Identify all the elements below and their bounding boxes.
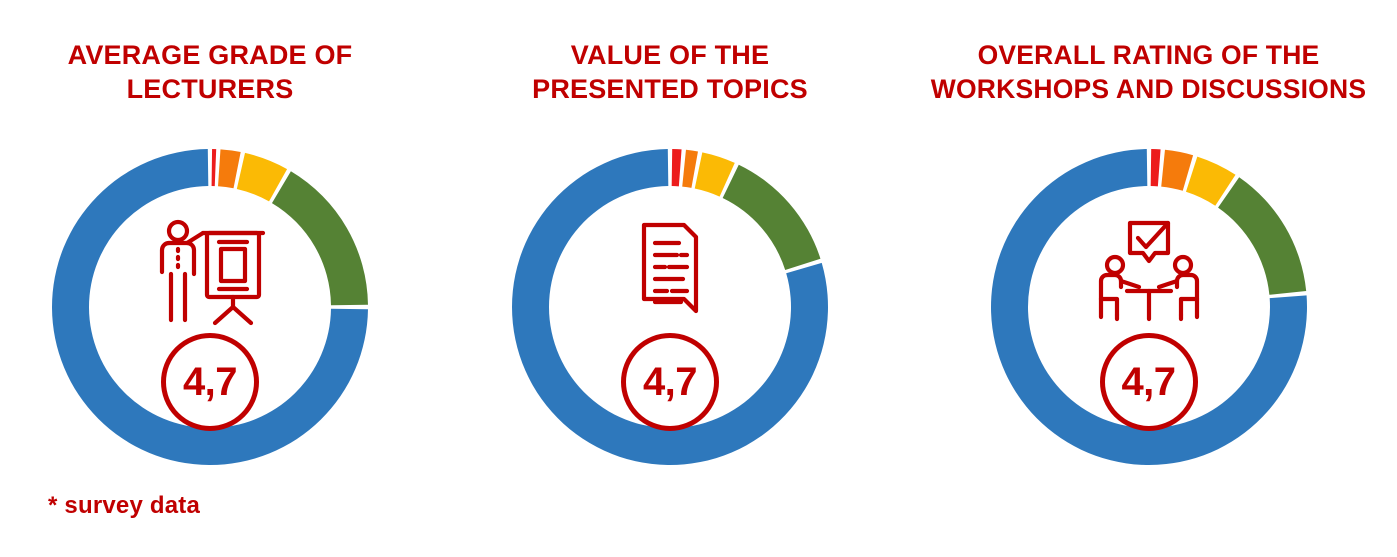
metric-panel-value-of-the-presented-topics: VALUE OF THE PRESENTED TOPICS (460, 0, 880, 557)
panel-title: VALUE OF THE PRESENTED TOPICS (460, 38, 880, 106)
donut-slice-1 (672, 149, 682, 186)
panel-title: OVERALL RATING OF THE WORKSHOPS AND DISC… (900, 38, 1397, 106)
donut-chart-value-of-the-presented-topics: 4,7 (500, 137, 840, 477)
donut-chart-average-grade-of-lecturers: 4,7 (40, 137, 380, 477)
value-badge: 4,7 (621, 333, 719, 431)
donut-chart-overall-rating-of-the-workshops-and-discussions: 4,7 (979, 137, 1319, 477)
footnote-survey-data: * survey data (48, 492, 200, 520)
metric-panel-average-grade-of-lecturers: AVERAGE GRADE OF LECTURERS (0, 0, 420, 557)
metric-panel-overall-rating-of-the-workshops-and-discussions: OVERALL RATING OF THE WORKSHOPS AND DISC… (900, 0, 1397, 557)
metric-value: 4,7 (183, 362, 237, 402)
donut-slice-2 (682, 150, 698, 188)
infographic-board: AVERAGE GRADE OF LECTURERS (0, 0, 1397, 557)
donut-slice-4 (1218, 177, 1306, 295)
donut-slice-4 (272, 171, 368, 305)
donut-slice-4 (723, 165, 821, 270)
donut-slice-2 (218, 149, 241, 188)
value-badge: 4,7 (161, 333, 259, 431)
metric-value: 4,7 (643, 362, 697, 402)
panel-title: AVERAGE GRADE OF LECTURERS (0, 38, 420, 106)
metric-value: 4,7 (1121, 362, 1175, 402)
donut-slice-1 (212, 149, 217, 186)
donut-slice-1 (1150, 149, 1160, 186)
value-badge: 4,7 (1100, 333, 1198, 431)
